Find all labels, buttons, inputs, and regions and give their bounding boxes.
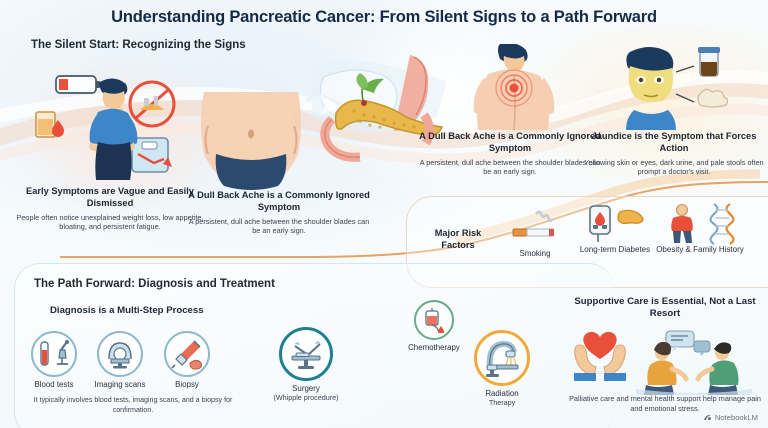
fatigued-man-illustration (28, 62, 198, 182)
risk-item-obesity: Obesity & Family History (655, 203, 745, 255)
risk-item-smoking: Smoking (497, 207, 573, 259)
diagnosis-step-blood-tests: Blood tests (22, 331, 86, 390)
diagnosis-step-imaging-scans: Imaging scans (85, 331, 155, 390)
radiation-machine-icon (474, 330, 530, 386)
diagnosis-step-label: Blood tests (22, 380, 86, 390)
obesity-dna-icon (655, 203, 745, 245)
card-body: Yellowing skin or eyes, dark urine, and … (580, 158, 768, 177)
page-title: Understanding Pancreatic Cancer: From Si… (0, 8, 768, 27)
back-pain-illustration (448, 44, 582, 130)
operating-table-icon (279, 327, 333, 381)
card-heading: Jaundice is the Symptom that Forces Acti… (580, 131, 768, 155)
syringe-tissue-icon (164, 331, 210, 377)
ct-scanner-icon (97, 331, 143, 377)
card-body: A persistent, dull ache between the shou… (186, 217, 372, 236)
treatment-sublabel: Therapy (462, 399, 542, 408)
card-heading: A Dull Back Ache is a Commonly Ignored S… (418, 131, 602, 155)
test-tube-microscope-icon (31, 331, 77, 377)
watermark: NotebookLM (703, 413, 758, 422)
card-supportive-care: Supportive Care is Essential, Not a Last… (562, 296, 768, 321)
jaundice-face-illustration (608, 42, 732, 130)
cigarette-icon (497, 207, 573, 249)
diagnosis-caption: It typically involves blood tests, imagi… (24, 396, 242, 415)
abdomen-illustration (186, 92, 316, 192)
risk-factors-title: Major Risk Factors (422, 228, 494, 251)
section-heading-silent-start: The Silent Start: Recognizing the Signs (31, 39, 246, 51)
card-jaundice: Jaundice is the Symptom that Forces Acti… (580, 131, 768, 177)
supportive-care-illustration (570, 325, 762, 395)
diagnosis-step-label: Biopsy (156, 380, 218, 390)
risk-item-diabetes: Long-term Diabetes (578, 203, 652, 255)
treatment-sublabel: (Whipple procedure) (258, 394, 354, 403)
card-body: A persistent, dull ache between the shou… (418, 158, 602, 177)
treatment-chemotherapy: Chemotherapy (396, 300, 472, 353)
card-back-ache-left: A Dull Back Ache is a Commonly Ignored S… (186, 190, 372, 236)
card-early-symptoms: Early Symptoms are Vague and Easily Dism… (16, 186, 204, 232)
iv-drip-icon (414, 300, 454, 340)
treatment-surgery: Surgery (Whipple procedure) (258, 327, 354, 402)
risk-item-label: Long-term Diabetes (578, 245, 652, 255)
subheading-diagnosis: Diagnosis is a Multi-Step Process (50, 305, 204, 316)
card-back-ache-right: A Dull Back Ache is a Commonly Ignored S… (418, 131, 602, 177)
card-heading: Early Symptoms are Vague and Easily Dism… (16, 186, 204, 210)
card-body: People often notice unexplained weight l… (16, 213, 204, 232)
notebooklm-logo-icon (703, 413, 712, 422)
risk-item-label: Obesity & Family History (655, 245, 745, 255)
treatment-label: Chemotherapy (396, 343, 472, 353)
risk-item-label: Smoking (497, 249, 573, 259)
glucose-meter-icon (578, 203, 652, 245)
diagnosis-step-biopsy: Biopsy (156, 331, 218, 390)
treatment-radiation: Radiation Therapy (462, 330, 542, 407)
card-heading: A Dull Back Ache is a Commonly Ignored S… (186, 190, 372, 214)
card-body: Palliative care and mental health suppor… (562, 394, 768, 413)
watermark-label: NotebookLM (715, 413, 758, 422)
section-heading-path-forward: The Path Forward: Diagnosis and Treatmen… (34, 278, 275, 290)
card-heading: Supportive Care is Essential, Not a Last… (562, 296, 768, 321)
diagnosis-step-label: Imaging scans (85, 380, 155, 390)
